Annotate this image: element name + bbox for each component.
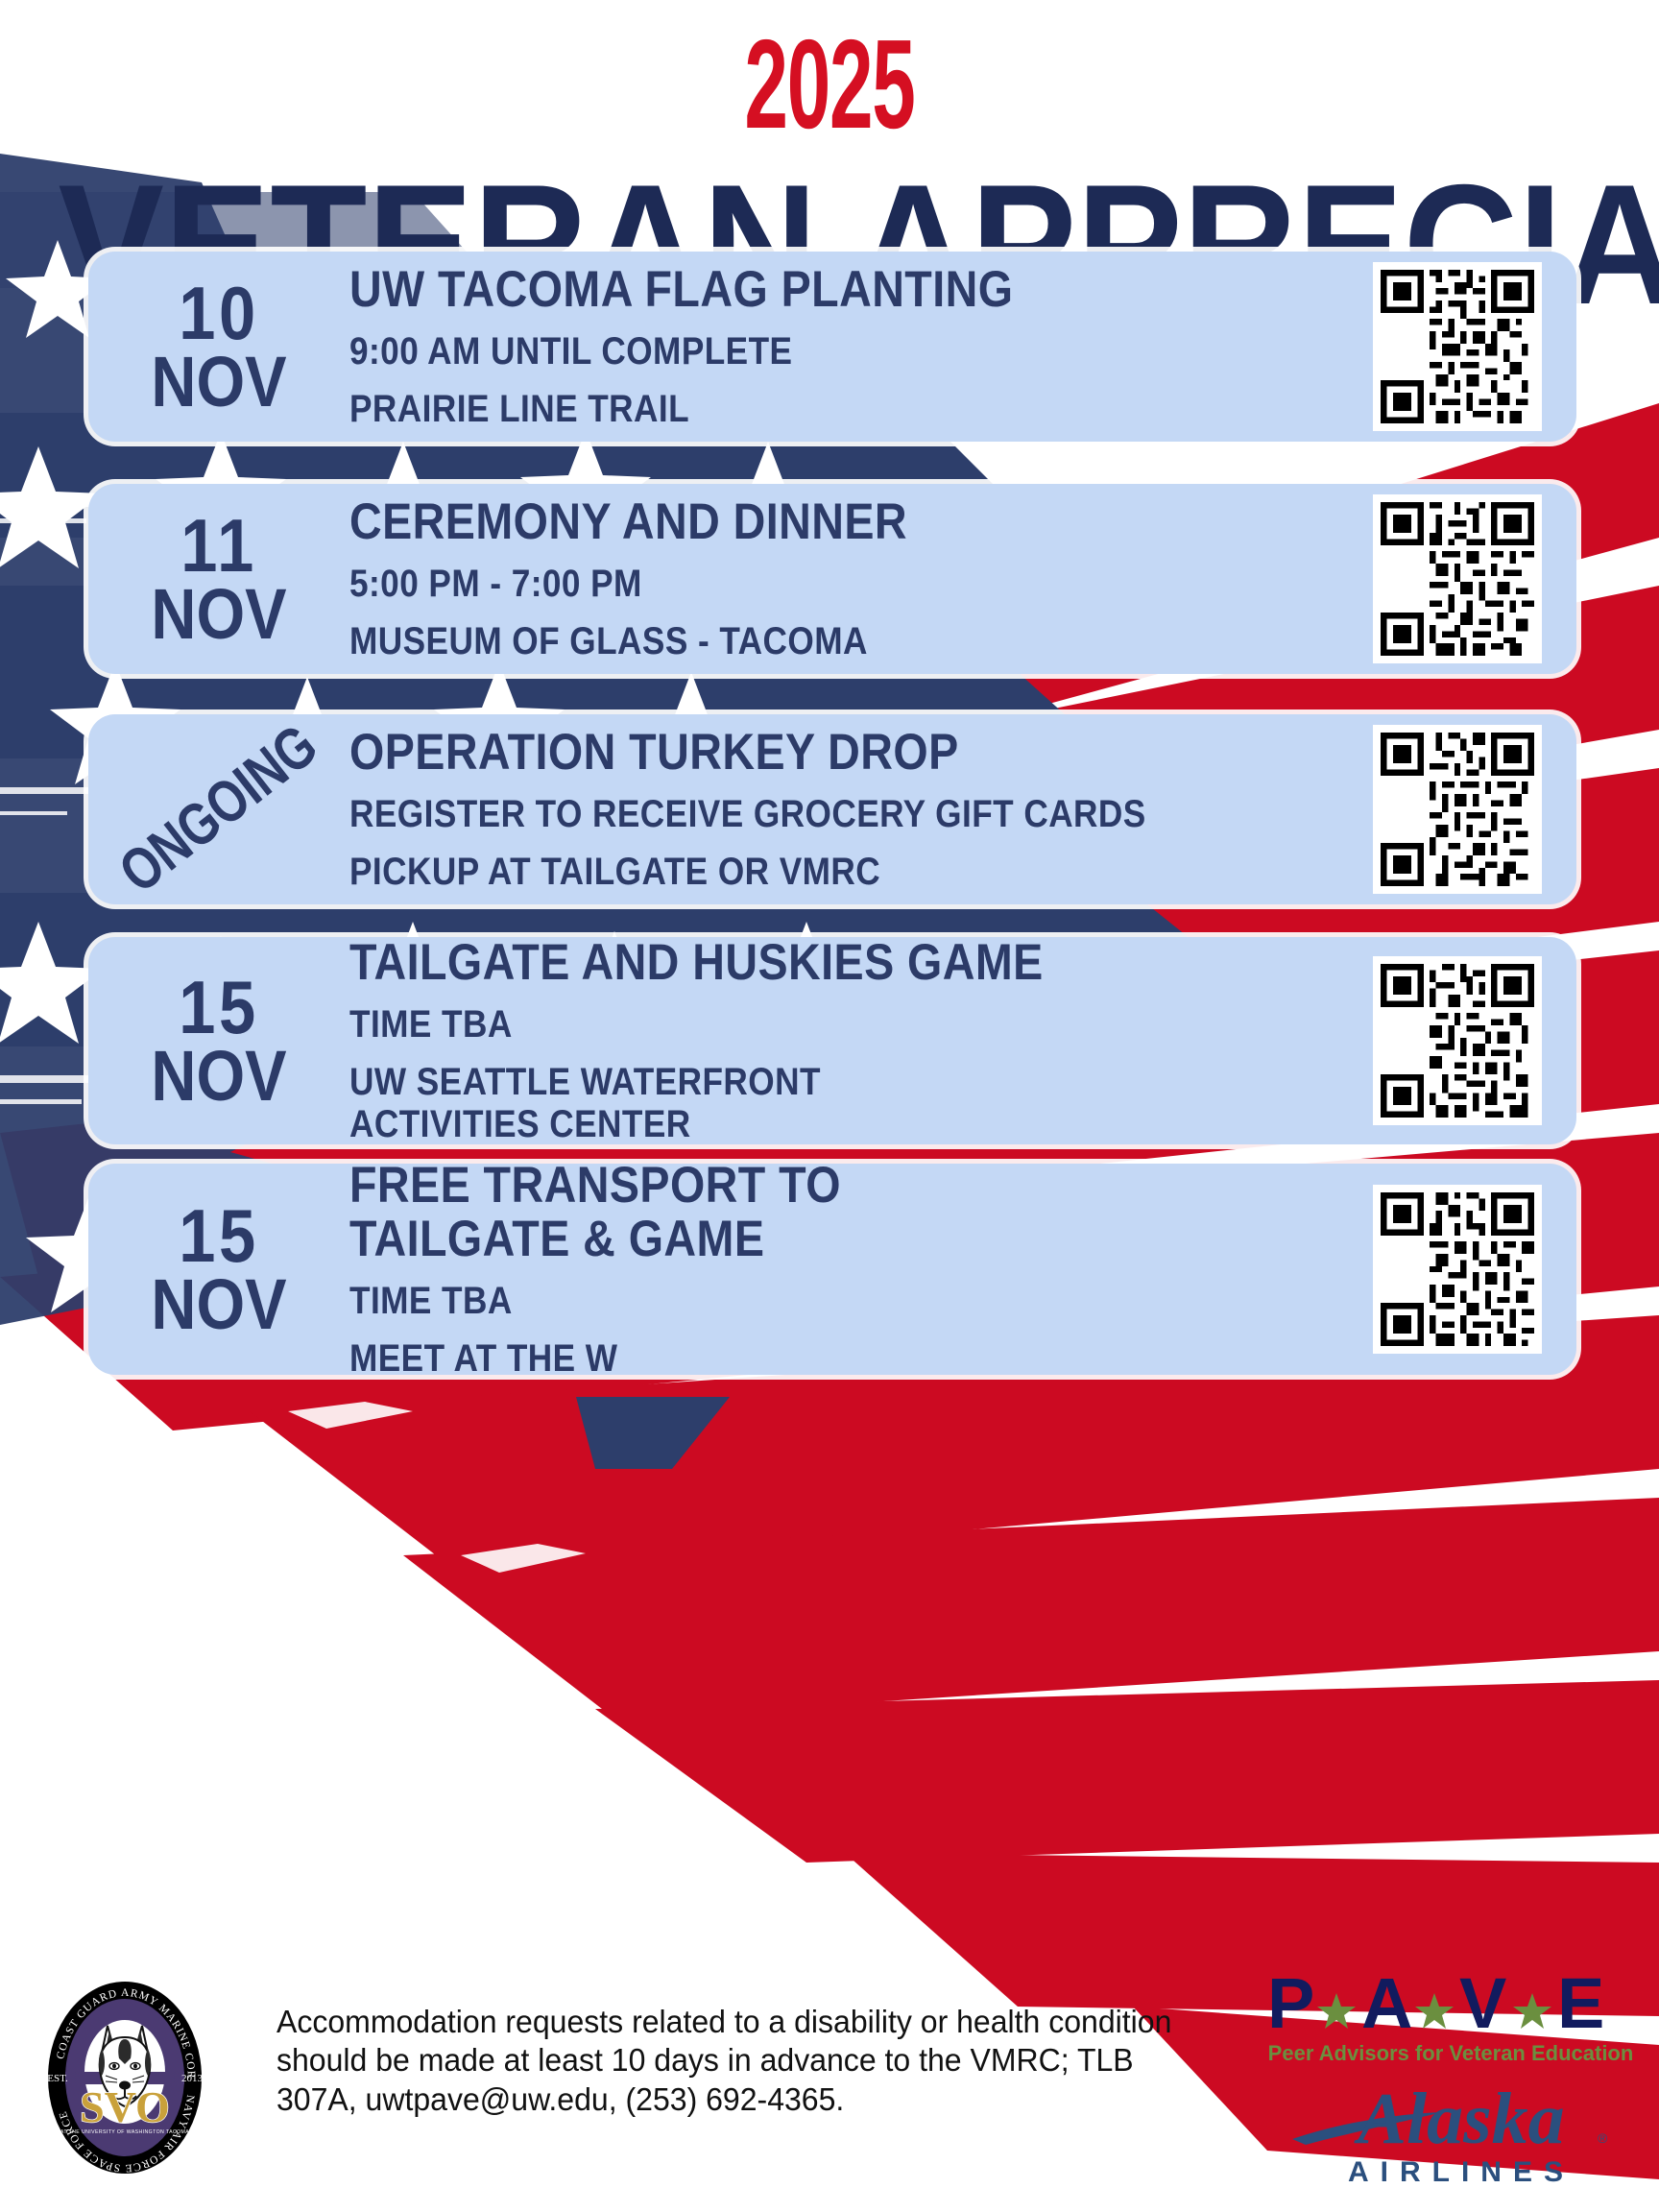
accommodation-text: Accommodation requests related to a disa… <box>276 2003 1208 2119</box>
event-title: FREE TRANSPORT TO TAILGATE & GAME <box>349 1159 941 1266</box>
event-day: 15 <box>104 974 333 1041</box>
event-card[interactable]: 15 NOV FREE TRANSPORT TO TAILGATE & GAME… <box>88 1164 1576 1375</box>
pave-subtitle: Peer Advisors for Veteran Education <box>1268 2041 1634 2065</box>
pave-letter-e: E <box>1557 1968 1604 2043</box>
event-time: 5:00 PM - 7:00 PM <box>349 563 1237 605</box>
event-location: PICKUP AT TAILGATE OR VMRC <box>349 851 1237 893</box>
event-month: NOV <box>104 1273 333 1337</box>
alaska-subtitle: AIRLINES <box>1348 2156 1575 2188</box>
event-location: MUSEUM OF GLASS - TACOMA <box>349 620 1237 662</box>
event-month: NOV <box>104 583 333 647</box>
alaska-logo-svg: Alaska ® AIRLINES <box>1288 2068 1634 2193</box>
svo-logo: SVO AT THE UNIVERSITY OF WASHINGTON TACO… <box>38 1980 211 2176</box>
event-time: REGISTER TO RECEIVE GROCERY GIFT CARDS <box>349 793 1237 835</box>
event-title: CEREMONY AND DINNER <box>349 495 1237 549</box>
event-day: ONGOING <box>111 717 325 902</box>
event-date: 15 NOV <box>88 1202 349 1337</box>
alaska-wordmark: Alaska <box>1354 2079 1564 2159</box>
event-details: UW TACOMA FLAG PLANTING 9:00 AM UNTIL CO… <box>349 263 1373 430</box>
pave-letter-v: V <box>1459 1968 1506 2043</box>
event-date: 15 NOV <box>88 974 349 1109</box>
event-location: PRAIRIE LINE TRAIL <box>349 388 1237 430</box>
event-date: 10 NOV <box>88 279 349 415</box>
pave-logo: P A V E Peer Advisors for Veteran Educat… <box>1263 1968 1638 2070</box>
event-details: CEREMONY AND DINNER 5:00 PM - 7:00 PM MU… <box>349 495 1373 662</box>
event-details: OPERATION TURKEY DROP REGISTER TO RECEIV… <box>349 726 1373 893</box>
pave-logo-svg: P A V E Peer Advisors for Veteran Educat… <box>1263 1968 1638 2070</box>
event-title: UW TACOMA FLAG PLANTING <box>349 263 1237 317</box>
event-date: ONGOING <box>88 782 349 836</box>
qr-code-icon[interactable] <box>1373 1185 1542 1354</box>
event-time: TIME TBA <box>349 1280 1237 1322</box>
event-location: MEET AT THE W <box>349 1337 1237 1380</box>
pave-star-icon <box>1317 1993 1551 2029</box>
qr-code-svg <box>1381 1192 1534 1346</box>
event-time: 9:00 AM UNTIL COMPLETE <box>349 330 1237 373</box>
svo-est-label: EST. <box>47 2073 68 2084</box>
svo-acronym: SVO <box>80 2082 170 2131</box>
poster-footer: SVO AT THE UNIVERSITY OF WASHINGTON TACO… <box>0 1962 1659 2212</box>
qr-code-svg <box>1381 502 1534 656</box>
event-title: OPERATION TURKEY DROP <box>349 726 1237 780</box>
pave-letter-p: P <box>1267 1968 1314 2043</box>
event-card[interactable]: ONGOING OPERATION TURKEY DROP REGISTER T… <box>88 714 1576 904</box>
qr-code-svg <box>1381 964 1534 1118</box>
event-day: 10 <box>104 279 333 347</box>
qr-code-svg <box>1381 733 1534 886</box>
event-month: NOV <box>104 350 333 415</box>
qr-code-icon[interactable] <box>1373 494 1542 663</box>
event-location: UW SEATTLE WATERFRONT ACTIVITIES CENTER <box>349 1061 890 1145</box>
event-details: TAILGATE AND HUSKIES GAME TIME TBA UW SE… <box>349 936 1373 1145</box>
alaska-trademark: ® <box>1598 2130 1608 2146</box>
event-day: 11 <box>104 512 333 579</box>
qr-code-icon[interactable] <box>1373 956 1542 1125</box>
event-details: FREE TRANSPORT TO TAILGATE & GAME TIME T… <box>349 1159 1373 1380</box>
qr-code-icon[interactable] <box>1373 725 1542 894</box>
event-card[interactable]: 15 NOV TAILGATE AND HUSKIES GAME TIME TB… <box>88 937 1576 1144</box>
event-month: NOV <box>104 1045 333 1109</box>
qr-code-svg <box>1381 270 1534 423</box>
event-day: 15 <box>104 1202 333 1269</box>
svo-logo-svg: SVO AT THE UNIVERSITY OF WASHINGTON TACO… <box>38 1980 211 2176</box>
event-time: TIME TBA <box>349 1003 1237 1046</box>
qr-code-icon[interactable] <box>1373 262 1542 431</box>
alaska-airlines-logo: Alaska ® AIRLINES <box>1288 2068 1634 2193</box>
svo-tagline: AT THE UNIVERSITY OF WASHINGTON TACOMA <box>60 2129 189 2135</box>
event-card-list: 10 NOV UW TACOMA FLAG PLANTING 9:00 AM U… <box>0 0 1659 2212</box>
event-card[interactable]: 10 NOV UW TACOMA FLAG PLANTING 9:00 AM U… <box>88 252 1576 442</box>
event-card[interactable]: 11 NOV CEREMONY AND DINNER 5:00 PM - 7:0… <box>88 484 1576 674</box>
event-date: 11 NOV <box>88 512 349 647</box>
event-title: TAILGATE AND HUSKIES GAME <box>349 936 1237 990</box>
pave-letter-a: A <box>1361 1968 1412 2043</box>
